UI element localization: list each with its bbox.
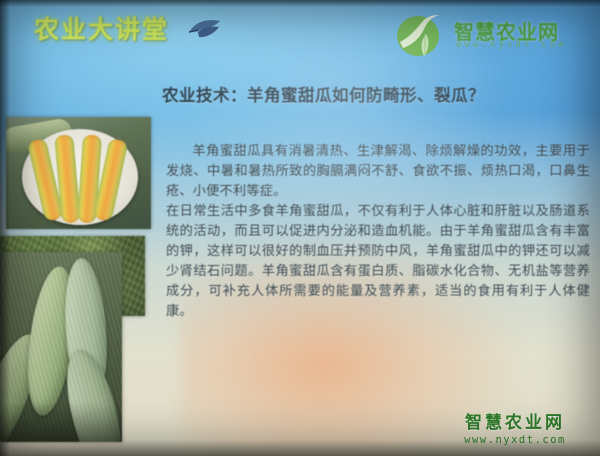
- sliced-melon-plate-photo: [6, 117, 151, 229]
- whole-melons-photo: [0, 252, 122, 442]
- watermark-url: www.nyxdt.com: [440, 434, 590, 446]
- watermark-name: 智慧农业网: [440, 408, 590, 433]
- watermark: 智慧农业网 www.nyxdt.com: [440, 408, 590, 446]
- headline: 农业技术：羊角蜜甜瓜如何防畸形、裂瓜？: [162, 82, 582, 106]
- road-leaf-logo-icon: [396, 12, 450, 58]
- body-paragraph-2: 在日常生活中多食羊角蜜甜瓜，不仅有利于人体心脏和肝脏以及肠道系统的活动，而且可以…: [166, 202, 590, 322]
- slide-header: 农业大讲堂 智慧农业网 www.nyxdt.com: [0, 0, 600, 62]
- photo-fade-overlay: [0, 402, 122, 442]
- presentation-slide: 农业大讲堂 智慧农业网 www.nyxdt.com 农业技术：羊角蜜甜瓜如何防畸…: [0, 0, 600, 456]
- body-text-column: 羊角蜜甜瓜具有消暑清热、生津解渴、除烦解燥的功效，主要用于发烧、中暑和暑热所致的…: [166, 142, 590, 322]
- leaf-icon: [188, 18, 222, 42]
- logo-url: www.nyxdt.com: [456, 40, 567, 50]
- body-paragraph-1: 羊角蜜甜瓜具有消暑清热、生津解渴、除烦解燥的功效，主要用于发烧、中暑和暑热所致的…: [166, 142, 590, 202]
- site-logo[interactable]: 智慧农业网 www.nyxdt.com: [396, 12, 588, 60]
- program-title: 农业大讲堂: [34, 10, 169, 46]
